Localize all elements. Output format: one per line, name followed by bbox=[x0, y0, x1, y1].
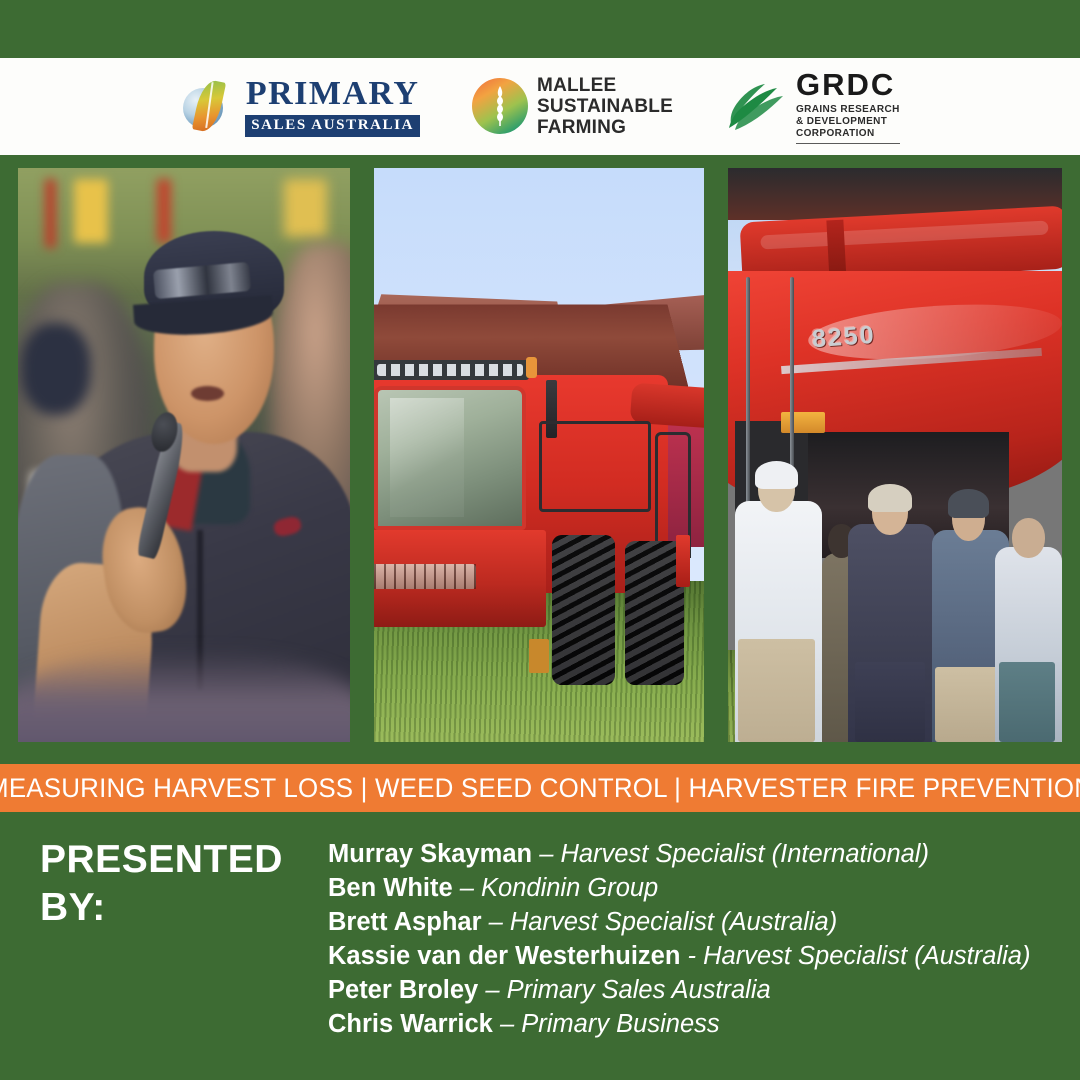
wheat-circle-icon bbox=[472, 78, 528, 134]
primary-sales-wordmark: PRIMARY bbox=[245, 77, 420, 111]
grdc-sub-line-2: & DEVELOPMENT bbox=[796, 116, 900, 128]
presenter-row: Peter Broley – Primary Sales Australia bbox=[328, 974, 1068, 1008]
person-legs bbox=[999, 662, 1056, 742]
globe-leaf-icon bbox=[180, 79, 236, 135]
presenter-name: Ben White bbox=[328, 874, 453, 902]
mallee-line-2: SUSTAINABLE bbox=[537, 96, 673, 117]
presenter-row: Chris Warrick – Primary Business bbox=[328, 1008, 1068, 1042]
presented-by-line-1: PRESENTED bbox=[40, 836, 308, 884]
presenter-row: Brett Asphar – Harvest Specialist (Austr… bbox=[328, 906, 1068, 940]
presenter-name: Brett Asphar bbox=[328, 908, 482, 936]
topics-banner-text: MEASURING HARVEST LOSS | WEED SEED CONTR… bbox=[0, 773, 1080, 804]
logo-primary-sales-australia: PRIMARY SALES AUSTRALIA bbox=[180, 77, 420, 137]
person-cap-icon bbox=[868, 484, 911, 513]
photo-red-combine-harvester bbox=[374, 168, 704, 742]
presenter-row: Ben White – Kondinin Group bbox=[328, 872, 1068, 906]
grdc-sub-line-3: CORPORATION bbox=[796, 128, 900, 140]
wheat-stalks-icon bbox=[725, 80, 787, 134]
person-cap-icon bbox=[755, 461, 798, 490]
presenter-row: Murray Skayman – Harvest Specialist (Int… bbox=[328, 838, 1068, 872]
logo-mallee-sustainable-farming: MALLEE SUSTAINABLE FARMING bbox=[472, 75, 673, 139]
photo-speaker-with-microphone bbox=[18, 168, 350, 742]
presenter-role: - Harvest Specialist (Australia) bbox=[688, 942, 1031, 970]
person-legs bbox=[855, 662, 925, 742]
person-legs bbox=[935, 667, 1002, 742]
presenter-name: Kassie van der Westerhuizen bbox=[328, 942, 680, 970]
photo-gallery: 8250 bbox=[18, 168, 1062, 742]
presented-by-label: PRESENTED BY: bbox=[40, 836, 308, 931]
person-legs bbox=[738, 639, 815, 742]
poster-canvas: PRIMARY SALES AUSTRALIA MALLEE SUSTAINAB… bbox=[0, 0, 1080, 1080]
photo-crowd-at-harvester: 8250 bbox=[728, 168, 1062, 742]
topics-banner: MEASURING HARVEST LOSS | WEED SEED CONTR… bbox=[0, 764, 1080, 812]
presenter-role: – Harvest Specialist (Australia) bbox=[489, 908, 838, 936]
mallee-line-3: FARMING bbox=[537, 117, 673, 138]
grdc-sub-line-1: GRAINS RESEARCH bbox=[796, 104, 900, 116]
presenter-list: Murray Skayman – Harvest Specialist (Int… bbox=[328, 838, 1068, 1041]
person-cap-icon bbox=[948, 489, 988, 518]
primary-sales-subtitle: SALES AUSTRALIA bbox=[245, 115, 420, 137]
presenter-name: Murray Skayman bbox=[328, 840, 532, 868]
logo-grdc: GRDC GRAINS RESEARCH & DEVELOPMENT CORPO… bbox=[725, 69, 900, 144]
grdc-wordmark: GRDC bbox=[796, 69, 900, 100]
presenter-role: – Primary Sales Australia bbox=[485, 976, 770, 1004]
presenter-role: – Kondinin Group bbox=[460, 874, 658, 902]
sponsor-logo-band: PRIMARY SALES AUSTRALIA MALLEE SUSTAINAB… bbox=[0, 58, 1080, 155]
wheat-head-icon bbox=[490, 86, 510, 126]
presenter-role: – Harvest Specialist (International) bbox=[539, 840, 929, 868]
presenter-name: Peter Broley bbox=[328, 976, 478, 1004]
presented-by-line-2: BY: bbox=[40, 884, 308, 932]
presenter-name: Chris Warrick bbox=[328, 1010, 493, 1038]
presenter-role: – Primary Business bbox=[500, 1010, 720, 1038]
harvester-model-badge: 8250 bbox=[811, 321, 876, 354]
mallee-wordmark: MALLEE SUSTAINABLE FARMING bbox=[537, 75, 673, 139]
grdc-subtitle: GRAINS RESEARCH & DEVELOPMENT CORPORATIO… bbox=[796, 104, 900, 144]
presenter-row: Kassie van der Westerhuizen - Harvest Sp… bbox=[328, 940, 1068, 974]
mallee-line-1: MALLEE bbox=[537, 75, 673, 96]
person-head bbox=[1012, 518, 1045, 558]
